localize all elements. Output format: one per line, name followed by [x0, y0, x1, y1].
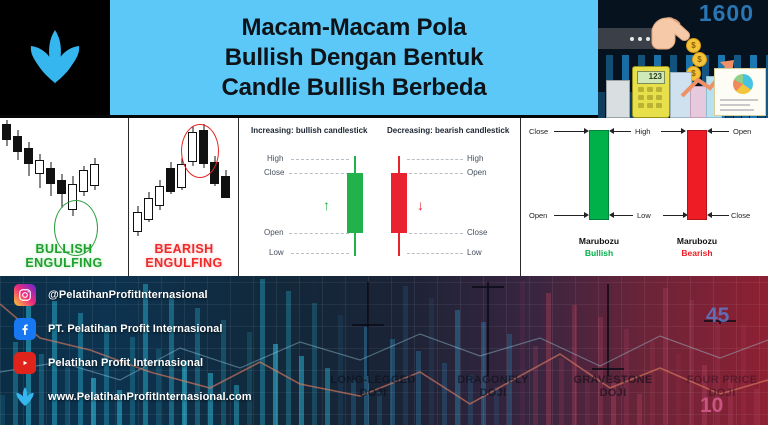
instagram-handle: @PelatihanProfitInternasional	[48, 289, 208, 301]
contact-row-youtube[interactable]: Pelatihan Profit Internasional	[14, 352, 203, 374]
level-bullish-close: Close	[264, 168, 284, 177]
level-bullish-open: Open	[264, 228, 284, 237]
mz-low-label: Low	[637, 211, 651, 220]
label-line-2: ENGULFING	[129, 256, 239, 270]
mz-high-label: High	[635, 127, 650, 136]
footer-number-10: 10	[700, 394, 723, 418]
title-line-1: Macam-Macam Pola	[242, 13, 467, 43]
mz-bull-close: Close	[529, 127, 548, 136]
level-bearish-close: Close	[467, 228, 487, 237]
bearish-engulfing-label: BEARISH ENGULFING	[129, 242, 239, 270]
mz-bull-open: Open	[529, 211, 547, 220]
marubozu-bullish-sub: Bullish	[555, 248, 643, 258]
contact-row-website[interactable]: www.PelatihanProfitInternasional.com	[14, 386, 252, 408]
header-bar: Macam-Macam Pola Bullish Dengan Bentuk C…	[0, 0, 768, 118]
bullish-candle-shape	[347, 156, 363, 256]
heading-bullish-candlestick: Increasing: bullish candlestick	[251, 126, 367, 135]
pie-chart-icon	[733, 74, 753, 94]
bearish-candle-shape	[391, 156, 407, 256]
sleeve-shape	[598, 28, 658, 49]
contact-row-instagram[interactable]: @PelatihanProfitInternasional	[14, 284, 208, 306]
contact-row-facebook[interactable]: PT. Pelatihan Profit Internasional	[14, 318, 223, 340]
highlight-ellipse	[181, 124, 219, 178]
level-bullish-high: High	[267, 154, 283, 163]
calculator-icon: 123	[632, 66, 670, 118]
marubozu-bullish-body	[589, 130, 609, 220]
footer-number-45: 45	[706, 304, 729, 328]
panel-bearish-engulfing: BEARISH ENGULFING	[128, 118, 239, 276]
instagram-icon[interactable]	[14, 284, 36, 306]
facebook-page-name: PT. Pelatihan Profit Internasional	[48, 323, 223, 335]
brand-logo-container	[0, 0, 110, 115]
marubozu-bullish-name: Marubozu	[555, 236, 643, 246]
youtube-icon[interactable]	[14, 352, 36, 374]
doji-line-1: DRAGONFLY	[438, 374, 548, 387]
infographic-page: Macam-Macam Pola Bullish Dengan Bentuk C…	[0, 0, 768, 425]
marubozu-bearish-sub: Bearish	[653, 248, 741, 258]
lotus-logo-icon	[14, 386, 36, 408]
down-arrow-icon: ↓	[417, 198, 424, 212]
doji-line-2: DOJI	[438, 387, 548, 400]
lotus-logo-icon	[26, 27, 84, 89]
title-band: Macam-Macam Pola Bullish Dengan Bentuk C…	[110, 0, 598, 115]
heading-bearish-candlestick: Decreasing: bearish candlestick	[387, 126, 509, 135]
up-arrow-icon: ↑	[323, 198, 330, 212]
mz-bear-close: Close	[731, 211, 750, 220]
facebook-icon[interactable]	[14, 318, 36, 340]
title-line-2: Bullish Dengan Bentuk	[225, 43, 484, 73]
label-line-1: BULLISH	[0, 242, 128, 256]
hero-number: 1600	[699, 0, 754, 27]
doji-line-2: DOJI	[318, 387, 428, 400]
bullish-engulfing-label: BULLISH ENGULFING	[0, 242, 128, 270]
level-bearish-open: Open	[467, 168, 487, 177]
panel-marubozu: Close Open High Low Open Close	[520, 118, 768, 276]
calculator-display: 123	[637, 71, 665, 84]
coin-icon: $	[686, 38, 701, 53]
report-document-icon	[714, 68, 766, 116]
panel-candle-anatomy: Increasing: bullish candlestick Decreasi…	[238, 118, 521, 276]
level-bearish-low: Low	[467, 248, 482, 257]
doji-label-dragonfly: DRAGONFLY DOJI	[438, 374, 548, 400]
title-line-3: Candle Bullish Berbeda	[222, 73, 487, 103]
label-line-1: BEARISH	[129, 242, 239, 256]
mz-bear-open: Open	[733, 127, 751, 136]
header-illustration: 1600 $ $ $ 123	[598, 0, 768, 118]
label-line-2: ENGULFING	[0, 256, 128, 270]
hero-bar	[598, 92, 605, 118]
youtube-channel-name: Pelatihan Profit Internasional	[48, 357, 203, 369]
candlestick-panels: BULLISH ENGULFING BEARISH ENGULFING Incr…	[0, 118, 768, 276]
doji-line-1: GRAVESTONE	[558, 374, 668, 387]
building-shape	[606, 80, 630, 118]
panel-bullish-engulfing: BULLISH ENGULFING	[0, 118, 128, 276]
doji-line-1: FOUR PRICE	[676, 374, 768, 387]
doji-label-gravestone: GRAVESTONE DOJI	[558, 374, 668, 400]
marubozu-bearish-name: Marubozu	[653, 236, 741, 246]
website-url: www.PelatihanProfitInternasional.com	[48, 391, 252, 403]
marubozu-bearish-body	[687, 130, 707, 220]
doji-line-2: DOJI	[558, 387, 668, 400]
level-bullish-low: Low	[269, 248, 284, 257]
footer-branding: @PelatihanProfitInternasional PT. Pelati…	[0, 276, 768, 425]
doji-label-long-legged: LONG-LEGGED DOJI	[318, 374, 428, 400]
level-bearish-high: High	[467, 154, 483, 163]
doji-line-1: LONG-LEGGED	[318, 374, 428, 387]
